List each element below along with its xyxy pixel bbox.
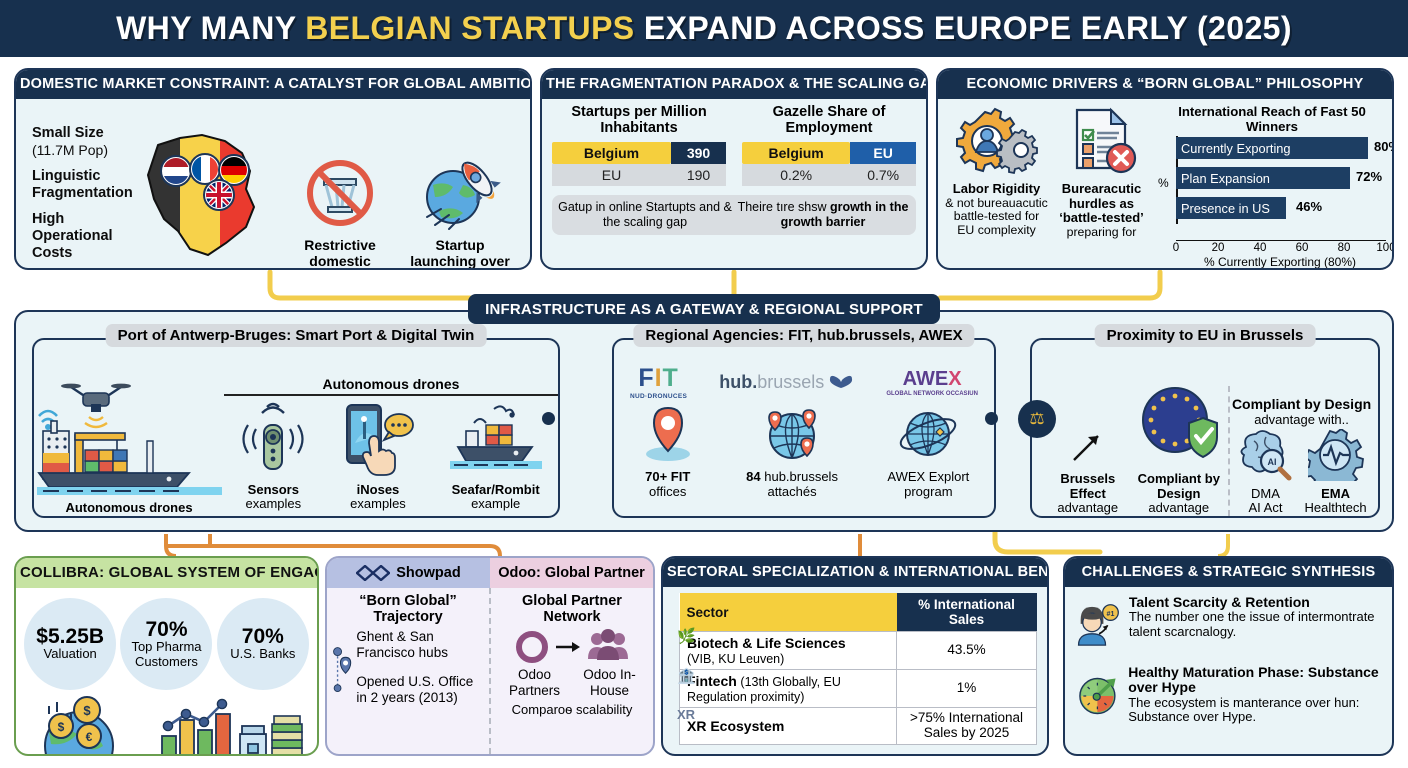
- rocket-globe-icon: [419, 155, 501, 231]
- document-rejected-icon: [1063, 104, 1141, 176]
- collibra-kpis: $5.25B Valuation 70% Top Pharma Customer…: [22, 598, 311, 690]
- panel-economic-drivers: ECONOMIC DRIVERS & “BORN GLOBAL” PHILOSO…: [936, 68, 1394, 270]
- agency-item-awex: AWEX Explortprogram: [887, 404, 969, 499]
- map-pin-timeline-icon: [333, 629, 352, 713]
- xtick-1: 20: [1212, 242, 1225, 254]
- panel-showpad-odoo: Showpad Odoo: Global Partner “Born Globa…: [325, 556, 655, 756]
- chart-bar-0: Currently Exporting: [1176, 137, 1368, 159]
- challenges-body: #1 Talent Scarcity & Retention The numbe…: [1065, 587, 1392, 752]
- panel1-bullets: Small Size (11.7M Pop) Linguistic Fragme…: [26, 125, 136, 270]
- icon-caption-ceiling: Restrictivedomesticceiling: [280, 238, 400, 270]
- chart-value-1: 72%: [1356, 169, 1382, 184]
- panel1-title: DOMESTIC MARKET CONSTRAINT: A CATALYST F…: [16, 70, 530, 99]
- eu-right-dma: AI DMAAI Act: [1236, 429, 1294, 516]
- map-pin-icon: [639, 404, 697, 464]
- startups-per-million-block: Startups per Million Inhabitants Belgium…: [552, 104, 726, 186]
- cell-eu-label: EU: [552, 164, 671, 186]
- sector-row-0-name: Biotech & Life Sciences (VIB, KU Leuven): [680, 632, 897, 670]
- agency-item-hub: 84 hub.brusselsattachés: [746, 404, 838, 499]
- chart-bar-1: Plan Expansion: [1176, 167, 1350, 189]
- table-header-row: Sector % International Sales: [680, 593, 1037, 632]
- challenge-0-text: Talent Scarcity & Retention The number o…: [1129, 595, 1382, 640]
- gears-person-icon: [955, 104, 1039, 176]
- cargo-ship-port-icon: [37, 375, 222, 495]
- kpi-1-big: 70%: [145, 619, 187, 640]
- odoo-heading: Global Partner Network: [497, 593, 647, 625]
- sector-row-0-bold: Biotech & Life Sciences: [687, 635, 846, 651]
- note-right-plain: Theire tıre shsw: [738, 200, 830, 214]
- driver-labor-rigidity: Labor Rigidity & not bureauacutic battle…: [944, 104, 1049, 261]
- startups-heading: Startups per Million Inhabitants: [552, 104, 726, 136]
- eu-divider: [1228, 386, 1230, 516]
- svg-text:$: $: [83, 703, 91, 718]
- bullet-costs: High Operational Costs: [32, 211, 136, 262]
- eu-ema-caption: EMAHealthtech: [1304, 487, 1366, 516]
- eu-item-1-caption: Compliant by Designadvantage: [1131, 472, 1227, 516]
- panel3-body: Labor Rigidity & not bureauacutic battle…: [938, 99, 1392, 266]
- eu-item-0-caption: Brussels Effectadvantage: [1049, 472, 1127, 516]
- bullet-0-main: Small Size: [32, 125, 104, 141]
- panel-sector: SECTORAL SPECIALIZATION & INTERNATIONAL …: [661, 556, 1049, 756]
- sector-row-2-bold: XR Ecosystem: [687, 718, 784, 734]
- panel2-title: THE FRAGMENTATION PARADOX & THE SCALING …: [542, 70, 926, 99]
- showpad-header: Showpad: [327, 558, 490, 588]
- speech-bubble-icon: [384, 414, 413, 440]
- person-number-one-icon: #1: [1075, 595, 1122, 657]
- collibra-illustrations: $ $ €: [22, 692, 311, 756]
- drones-heading: Autonomous drones: [224, 376, 558, 396]
- chart-y-label: %: [1158, 176, 1169, 190]
- belgium-map-icon: [130, 123, 280, 270]
- showpad-heading: “Born Global” Trajectory: [333, 593, 483, 625]
- port-main-caption-text: Autonomous drones: [65, 500, 192, 515]
- chart-bar-2: Presence in US: [1176, 197, 1286, 219]
- bullet-small-size: Small Size (11.7M Pop): [32, 125, 136, 159]
- challenge-1-body: The ecosystem is manterance over hun: Su…: [1128, 696, 1382, 725]
- port-main-illustration: Autonomous drones: [34, 375, 224, 516]
- cell-belgium-label: Belgium: [552, 142, 671, 164]
- port-item-0-sub: examples: [246, 496, 302, 511]
- page-title: WHY MANY BELGIAN STARTUPS EXPAND ACROSS …: [116, 10, 1292, 47]
- eu-ema-sub: Healthtech: [1304, 500, 1366, 515]
- sub-panel-agencies: Regional Agencies: FIT, hub.brussels, AW…: [612, 338, 996, 518]
- icon-caption-rocket: Startuplaunching overthe borders: [400, 238, 520, 270]
- driver-1-bold: Burearacutic hurdles as ‘battle-tested’: [1059, 181, 1144, 225]
- bullet-1-sub: Fragmentation: [32, 185, 136, 202]
- port-item-2-bold: Seafar/Rombit: [452, 482, 540, 497]
- startups-table: Belgium 390 EU 190: [552, 142, 726, 186]
- connector-hub-right: [985, 412, 998, 425]
- fit-logo: FIT NUD·DRONUCES: [630, 364, 687, 400]
- container-ship-icon: [450, 399, 542, 477]
- sector-body: 🌿 🏦 XR Sector % International Sales Biot…: [663, 587, 1047, 752]
- gauge-growth-icon: [1075, 665, 1121, 727]
- no-ceiling-icon: [302, 155, 378, 231]
- cell-gz-belgium: Belgium: [742, 142, 850, 164]
- challenges-title: CHALLENGES & STRATEGIC SYNTHESIS: [1065, 558, 1392, 587]
- agency-item-1-sub: attachés: [767, 484, 816, 499]
- kpi-2-sm: U.S. Banks: [230, 647, 295, 661]
- eu-ema-bold: EMA: [1321, 486, 1350, 501]
- panel2-body: Startups per Million Inhabitants Belgium…: [542, 99, 926, 266]
- table-row: XR Ecosystem >75% International Sales by…: [680, 708, 1037, 745]
- cell-gz-belgium-val: 0.2%: [742, 164, 850, 186]
- arrow-right-icon: [555, 637, 581, 657]
- driver-1-caption: Burearacutic hurdles as ‘battle-tested’ …: [1049, 182, 1154, 239]
- sector-table: Sector % International Sales Biotech & L…: [679, 593, 1037, 745]
- sector-row-2-name: XR Ecosystem: [680, 708, 897, 745]
- challenge-maturation: Healthy Maturation Phase: Substance over…: [1075, 665, 1382, 727]
- title-highlight: BELGIAN STARTUPS: [305, 10, 634, 46]
- sector-title: SECTORAL SPECIALIZATION & INTERNATIONAL …: [663, 558, 1047, 587]
- brain-ai-magnifier-icon: AI: [1236, 429, 1294, 481]
- panel-domestic-market: DOMESTIC MARKET CONSTRAINT: A CATALYST F…: [14, 68, 532, 270]
- agency-item-1-rest: hub.brussels: [761, 469, 838, 484]
- gazelle-share-block: Gazelle Share of Employment Belgium EU 0…: [742, 104, 916, 186]
- chart-money-stack-icon: [156, 692, 306, 756]
- sector-row-2-value: >75% International Sales by 2025: [897, 708, 1037, 745]
- table-row: Biotech & Life Sciences (VIB, KU Leuven)…: [680, 632, 1037, 670]
- eu-item-0-bold: Brussels Effect: [1060, 471, 1115, 501]
- globe-coins-icon: $ $ €: [27, 692, 147, 756]
- kpi-valuation: $5.25B Valuation: [24, 598, 116, 690]
- sub-panel-port: Port of Antwerp-Bruges: Smart Port & Dig…: [32, 338, 560, 518]
- gazelle-heading: Gazelle Share of Employment: [742, 104, 916, 136]
- chart-title: International Reach of Fast 50 Winners: [1158, 104, 1386, 134]
- odoo-header: Odoo: Global Partner: [490, 558, 653, 588]
- note-right: Theire tıre shsw growth in the growth ba…: [734, 200, 912, 230]
- chart-x-label: % Currently Exporting (80%): [1174, 255, 1386, 269]
- agency-title: Regional Agencies: FIT, hub.brussels, AW…: [633, 324, 974, 347]
- chart-bar-row: Plan Expansion 72%: [1176, 166, 1386, 192]
- international-reach-chart: International Reach of Fast 50 Winners %…: [1154, 104, 1386, 261]
- showpad-infinity-icon: [356, 565, 390, 581]
- uk-flag-icon: [204, 180, 234, 210]
- agency-item-2-rest: AWEX Explort: [887, 469, 969, 484]
- cell-gz-eu: EU: [850, 142, 916, 164]
- eu-flag-shield-icon: [1133, 384, 1225, 466]
- panel1-body: Small Size (11.7M Pop) Linguistic Fragme…: [16, 99, 530, 270]
- port-item-1-sub: examples: [350, 496, 406, 511]
- table-row: EU 190: [552, 164, 726, 186]
- gear-heartbeat-icon: [1308, 429, 1364, 481]
- svg-text:€: €: [85, 730, 92, 744]
- xtick-5: 100: [1376, 242, 1394, 254]
- note-left: Gatup in online Startupts and & the scal…: [556, 200, 734, 230]
- port-main-caption: Autonomous drones: [34, 501, 224, 516]
- people-group-icon: [586, 629, 630, 665]
- eu-title: Proximity to EU in Brussels: [1095, 324, 1316, 347]
- collibra-title: Collibra: Global System of Engagement: [16, 558, 317, 588]
- chart-value-2: 46%: [1296, 199, 1322, 214]
- agency-item-0-sub: offices: [649, 484, 686, 499]
- bullet-linguistic: Linguistic Fragmentation: [32, 168, 136, 202]
- agency-item-0-caption: 70+ FIToffices: [639, 470, 697, 499]
- showpad-point-1: Ghent & San Francisco hubs: [356, 629, 483, 660]
- sector-row-0-sub: (VIB, KU Leuven): [687, 652, 784, 666]
- eu-right-heading: Compliant by Design: [1232, 397, 1371, 412]
- panel-challenges: CHALLENGES & STRATEGIC SYNTHESIS #1 Tale…: [1063, 556, 1394, 756]
- sector-col-0: Sector: [680, 593, 897, 632]
- bullet-0-sub: (11.7M Pop): [32, 142, 136, 159]
- driver-bureaucratic-hurdles: Burearacutic hurdles as ‘battle-tested’ …: [1049, 104, 1154, 261]
- port-item-inoses: iNosesexamples: [339, 399, 417, 512]
- kpi-banks: 70% U.S. Banks: [217, 598, 309, 690]
- page-header: WHY MANY BELGIAN STARTUPS EXPAND ACROSS …: [0, 0, 1408, 57]
- awex-logo: AWEX GLOBAL NETWORK OCCASIUN: [886, 368, 978, 397]
- eu-right-sub: advantage with..: [1232, 413, 1371, 427]
- drone-icon: [61, 384, 131, 427]
- infrastructure-banner: INFRASTRUCTURE AS A GATEWAY & REGIONAL S…: [468, 294, 940, 324]
- hub-brussels-logo: hub.brussels: [719, 372, 854, 393]
- agency-stats: 70+ FIToffices 84 hub.brusselsattachés: [614, 404, 994, 499]
- port-item-2-caption: Seafar/Rombitexample: [450, 483, 542, 512]
- driver-0-text: & not bureauacutic battle-tested for EU …: [945, 196, 1048, 237]
- eu-item-1-bold: Compliant by Design: [1138, 471, 1220, 501]
- handshake-badge-icon: ⚖: [1018, 400, 1056, 438]
- eu-right-group: Compliant by Design advantage with.. AI: [1232, 397, 1377, 516]
- kpi-0-sm: Valuation: [44, 647, 97, 661]
- gazelle-table: Belgium EU 0.2% 0.7%: [742, 142, 916, 186]
- agency-item-1-caption: 84 hub.brusselsattachés: [746, 470, 838, 499]
- drones-group: Autonomous drones: [224, 376, 558, 516]
- agency-body: FIT NUD·DRONUCES hub.brussels AWEX GLOBA…: [614, 340, 994, 516]
- fit-logo-sub: NUD·DRONUCES: [630, 393, 687, 400]
- eu-right-ema: EMAHealthtech: [1304, 429, 1366, 516]
- xtick-0: 0: [1173, 242, 1179, 254]
- connector-hub-left: [542, 412, 555, 425]
- eu-brussels-effect: Brussels Effectadvantage: [1049, 426, 1127, 516]
- sensor-beacon-icon: [240, 399, 306, 477]
- port-item-sensors: Sensorsexamples: [240, 399, 306, 512]
- chart-bar-row: Presence in US 46%: [1176, 196, 1386, 222]
- chart-bar-row: Currently Exporting 80%: [1176, 136, 1386, 162]
- coin-icon: $: [49, 714, 73, 738]
- hub-heart-icon: [828, 374, 854, 390]
- svg-text:$: $: [57, 720, 64, 734]
- ring-icon: [514, 629, 550, 665]
- agency-item-fit: 70+ FIToffices: [639, 404, 697, 499]
- showpad-header-text: Showpad: [396, 565, 460, 581]
- svg-text:#1: #1: [1107, 610, 1115, 618]
- dna-plant-icon: 🌿: [677, 627, 696, 645]
- bank-building-icon: 🏦: [677, 667, 696, 685]
- eu-compliant-design: Compliant by Designadvantage: [1131, 384, 1227, 516]
- sector-row-1-value: 1%: [897, 670, 1037, 708]
- icon-col-ceiling: Restrictivedomesticceiling: [280, 155, 400, 270]
- panel-infrastructure: Port of Antwerp-Bruges: Smart Port & Dig…: [14, 310, 1394, 532]
- port-item-0-bold: Sensors: [248, 482, 299, 497]
- kpi-2-big: 70%: [242, 626, 284, 647]
- icon-col-rocket: Startuplaunching overthe borders: [400, 155, 520, 270]
- driver-0-bold: Labor Rigidity: [953, 181, 1040, 196]
- port-item-1-bold: iNoses: [357, 482, 400, 497]
- challenge-1-heading: Healthy Maturation Phase: Substance over…: [1128, 665, 1382, 696]
- panel2-notes: Gatup in online Startupts and & the scal…: [552, 195, 916, 235]
- agency-item-2-caption: AWEX Explortprogram: [887, 470, 969, 499]
- eu-body: Brussels Effectadvantage: [1032, 340, 1378, 516]
- challenge-0-body: The number one the issue of intermontrat…: [1129, 610, 1382, 639]
- eu-left-group: Brussels Effectadvantage: [1033, 384, 1227, 516]
- odoo-left-label: Odoo Partners: [502, 667, 568, 698]
- port-title: Port of Antwerp-Bruges: Smart Port & Dig…: [106, 324, 487, 347]
- odoo-footer: Comparoѳ scalability: [497, 703, 647, 718]
- chart-value-0: 80%: [1374, 139, 1394, 154]
- chart-plot-area: % Currently Exporting 80% Plan Expansion…: [1158, 136, 1386, 240]
- cell-gz-eu-val: 0.7%: [850, 164, 916, 186]
- table-row: Belgium EU: [742, 142, 916, 164]
- eu-item-0-sub: advantage: [1057, 500, 1118, 515]
- bullet-2-main: High Operational Costs: [32, 211, 113, 261]
- sector-col-1: % International Sales: [897, 593, 1037, 632]
- table-row: Belgium 390: [552, 142, 726, 164]
- challenge-talent: #1 Talent Scarcity & Retention The numbe…: [1075, 595, 1382, 657]
- sector-row-1-name: Fintech (13th Globally, EU Regulation pr…: [680, 670, 897, 708]
- bullet-1-main: Linguistic: [32, 168, 100, 184]
- driver-0-caption: Labor Rigidity & not bureauacutic battle…: [944, 182, 1049, 237]
- infographic-root: WHY MANY BELGIAN STARTUPS EXPAND ACROSS …: [0, 0, 1408, 768]
- port-body: Autonomous drones Autonomous drones: [34, 340, 558, 516]
- showpad-odoo-body: “Born Global” Trajectory Ghent & San Fra…: [327, 588, 653, 754]
- driver-1-text: preparing for: [1067, 225, 1137, 239]
- kpi-pharma: 70% Top Pharma Customers: [120, 598, 212, 690]
- xtick-4: 80: [1338, 242, 1351, 254]
- coin-icon: €: [77, 724, 101, 748]
- eu-dma-caption: DMAAI Act: [1236, 487, 1294, 516]
- cell-belgium-value: 390: [671, 142, 726, 164]
- eu-item-1-sub: advantage: [1148, 500, 1209, 515]
- kpi-0-big: $5.25B: [36, 626, 104, 647]
- eu-dma-sub: AI Act: [1248, 500, 1282, 515]
- title-pre: WHY MANY: [116, 10, 305, 46]
- table-row: Fintech (13th Globally, EU Regulation pr…: [680, 670, 1037, 708]
- agency-item-2-sub: program: [904, 484, 952, 499]
- port-item-seafar: Seafar/Rombitexample: [450, 399, 542, 512]
- nl-flag-icon: [161, 156, 191, 186]
- panel3-title: ECONOMIC DRIVERS & “BORN GLOBAL” PHILOSO…: [938, 70, 1392, 99]
- sector-row-0-value: 43.5%: [897, 632, 1037, 670]
- panel-fragmentation: THE FRAGMENTATION PARADOX & THE SCALING …: [540, 68, 928, 270]
- port-item-1-caption: iNosesexamples: [339, 483, 417, 512]
- phone-tap-icon: [339, 399, 417, 477]
- odoo-right-label: Odoo In-House: [577, 667, 643, 698]
- port-item-0-caption: Sensorsexamples: [240, 483, 306, 512]
- arrow-up-right-icon: [1068, 426, 1108, 466]
- showpad-content: “Born Global” Trajectory Ghent & San Fra…: [327, 588, 489, 754]
- challenge-1-text: Healthy Maturation Phase: Substance over…: [1128, 665, 1382, 725]
- port-item-2-sub: example: [471, 496, 520, 511]
- coin-icon: $: [74, 697, 100, 723]
- title-post: EXPAND ACROSS EUROPE EARLY (2025): [635, 10, 1292, 46]
- showpad-odoo-headers: Showpad Odoo: Global Partner: [327, 558, 653, 588]
- eu-dma-bold: DMA: [1251, 486, 1280, 501]
- globe-pins-icon: [761, 404, 823, 464]
- xtick-3: 60: [1296, 242, 1309, 254]
- panel1-icon-group: Restrictivedomesticceiling: [280, 107, 520, 270]
- xtick-2: 40: [1254, 242, 1267, 254]
- agency-item-0-bold: 70+ FIT: [645, 469, 690, 484]
- sub-panel-eu-proximity: Proximity to EU in Brussels Brussels Eff…: [1030, 338, 1380, 518]
- agency-item-1-bold: 84: [746, 469, 760, 484]
- challenge-0-heading: Talent Scarcity & Retention: [1129, 595, 1382, 610]
- odoo-content: Global Partner Network Odoo Partners Odo…: [491, 588, 653, 754]
- agency-logos: FIT NUD·DRONUCES hub.brussels AWEX GLOBA…: [614, 364, 994, 400]
- kpi-1-sm: Top Pharma Customers: [120, 640, 212, 668]
- awex-logo-sub: GLOBAL NETWORK OCCASIUN: [886, 391, 978, 397]
- showpad-point-2: Opened U.S. Office in 2 years (2013): [356, 674, 483, 705]
- collibra-body: $5.25B Valuation 70% Top Pharma Customer…: [16, 588, 317, 753]
- table-row: 0.2% 0.7%: [742, 164, 916, 186]
- chart-x-axis: 0 20 40 60 80 100: [1176, 240, 1386, 254]
- svg-text:AI: AI: [1268, 457, 1277, 467]
- xr-icon: XR: [677, 707, 695, 722]
- globe-orbit-icon: [898, 404, 958, 464]
- panel-collibra: Collibra: Global System of Engagement $5…: [14, 556, 319, 756]
- cell-eu-value: 190: [671, 164, 726, 186]
